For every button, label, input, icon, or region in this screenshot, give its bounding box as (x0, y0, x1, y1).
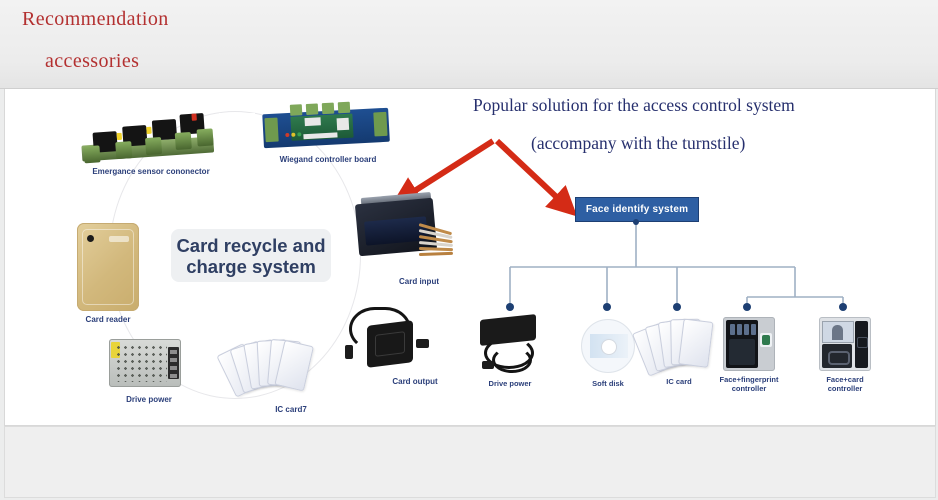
power-adapter-icon (478, 317, 542, 373)
tree-item-ic-card[interactable]: IC card (641, 315, 717, 403)
cd-disk-icon (581, 319, 635, 373)
card-stack-icon (644, 315, 714, 373)
tree-item-label: Drive power (489, 379, 532, 388)
tree-connectors (5, 89, 935, 425)
page-title-line2: accessories (45, 50, 139, 73)
tree-item-face-fingerprint-controller[interactable]: Face+fingerprint controller (721, 317, 777, 405)
tree-item-label-line1: Face+fingerprint (720, 375, 779, 384)
tree-item-label-line2: controller (732, 384, 767, 393)
diagram-canvas: Popular solution for the access control … (4, 89, 936, 426)
tree-item-label-line2: controller (828, 384, 863, 393)
page-title-line1: Recommendation (22, 8, 169, 31)
tree-item-label-line1: Face+card (826, 375, 863, 384)
face-card-terminal-icon (819, 317, 871, 371)
footer-area (4, 426, 936, 498)
header-bar: Recommendation accessories (0, 0, 938, 89)
tree-item-face-card-controller[interactable]: Face+card controller (817, 317, 873, 405)
face-fingerprint-terminal-icon (723, 317, 775, 371)
tree-item-drive-power[interactable]: Drive power (474, 317, 546, 403)
tree-item-soft-disk[interactable]: Soft disk (581, 317, 635, 403)
tree-item-label: Soft disk (592, 379, 624, 388)
slide-page: Recommendation accessories Popular solut… (0, 0, 938, 500)
tree-item-label: IC card (666, 377, 691, 386)
